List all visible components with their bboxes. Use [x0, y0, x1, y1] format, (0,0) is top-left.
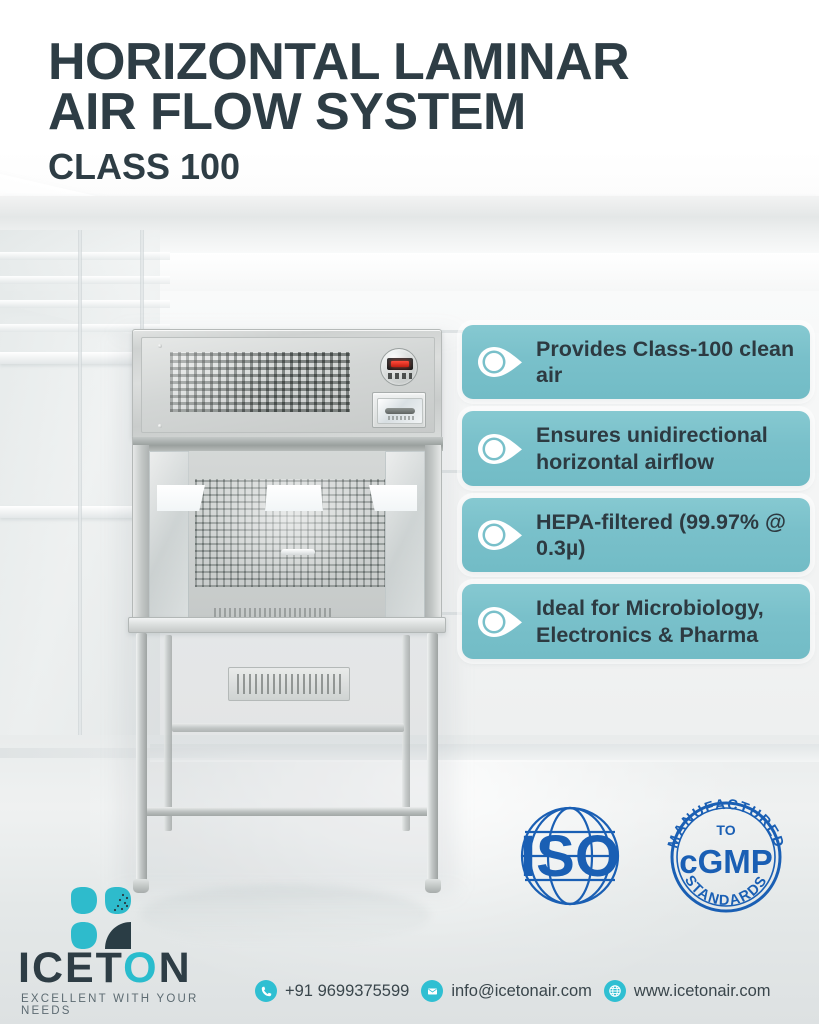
feature-item-3[interactable]: HEPA-filtered (99.97% @ 0.3µ) [462, 498, 810, 572]
cabinet-plenum [132, 329, 442, 439]
feature-label: Provides Class-100 clean air [536, 336, 796, 388]
logo-word-part1: ICET [18, 944, 123, 992]
phone-icon [255, 980, 277, 1002]
chamber-lamp-right [369, 485, 417, 511]
product-image [110, 325, 465, 905]
logo-wordmark: ICETON [18, 947, 233, 990]
cgmp-seal-icon: MANUFACTURED TO cGMP STANDARDS [656, 797, 796, 915]
glass-louvre [0, 276, 170, 284]
feature-label: Ensures unidirectional horizontal airflo… [536, 422, 796, 474]
gauge-scale [388, 416, 414, 420]
display-buttons [388, 373, 412, 379]
gauge-needle [385, 408, 415, 414]
stand-brace-mid [172, 723, 404, 732]
poster-canvas: HORIZONTAL LAMINAR AIR FLOW SYSTEM CLASS… [0, 0, 819, 1024]
stand-leg-front-left [136, 633, 147, 883]
digital-display [380, 348, 418, 386]
website-url: www.icetonair.com [634, 982, 771, 1001]
panel-screw [158, 344, 162, 348]
eye-bullet-icon [476, 345, 526, 379]
contact-email[interactable]: info@icetonair.com [421, 980, 592, 1002]
logo-word-part2: N [159, 944, 192, 992]
side-glass-panel-right [385, 451, 425, 623]
stand-leg-front-right [427, 633, 438, 883]
company-logo: ICETON EXCELLENT WITH YOUR NEEDS [18, 885, 233, 1017]
eye-bullet-icon [476, 605, 526, 639]
title-line-2: AIR FLOW SYSTEM [48, 88, 788, 138]
phone-number: +91 9699375599 [285, 982, 409, 1001]
chamber-handle [281, 549, 315, 555]
stand-leg-back-left [164, 635, 172, 831]
under-cabinet-vent [228, 667, 350, 701]
page-subtitle: CLASS 100 [48, 146, 788, 188]
page-title: HORIZONTAL LAMINAR AIR FLOW SYSTEM [48, 38, 788, 138]
prefilter-grille [170, 352, 350, 412]
iso-label: ISO [520, 824, 620, 889]
logo-word-o: O [123, 944, 158, 992]
chamber-lamp-center [265, 485, 323, 511]
contact-phone[interactable]: +91 9699375599 [255, 980, 409, 1002]
stand-brace-low [142, 807, 434, 816]
side-glass-panel-left [149, 451, 189, 623]
poster-title-block: HORIZONTAL LAMINAR AIR FLOW SYSTEM CLASS… [48, 38, 788, 188]
feature-item-4[interactable]: Ideal for Microbiology, Electronics & Ph… [462, 584, 810, 658]
display-screen [387, 358, 413, 370]
globe-icon [604, 980, 626, 1002]
eye-bullet-icon [476, 432, 526, 466]
chamber-top-lip [133, 437, 443, 451]
stand-leg-back-right [402, 635, 410, 831]
feature-item-1[interactable]: Provides Class-100 clean air [462, 325, 810, 399]
magnehelic-gauge [372, 392, 426, 428]
eye-bullet-icon [476, 518, 526, 552]
glass-louvre [0, 300, 170, 308]
adjustable-foot-right [425, 879, 441, 893]
work-chamber [132, 437, 442, 627]
display-led-readout [391, 361, 409, 367]
cgmp-badge: MANUFACTURED TO cGMP STANDARDS [656, 797, 796, 915]
title-line-1: HORIZONTAL LAMINAR [48, 38, 788, 88]
feature-label: Ideal for Microbiology, Electronics & Ph… [536, 595, 796, 647]
email-icon [421, 980, 443, 1002]
chamber-right-post [425, 445, 441, 625]
feature-item-2[interactable]: Ensures unidirectional horizontal airflo… [462, 411, 810, 485]
chamber-left-post [133, 445, 149, 625]
contact-website[interactable]: www.icetonair.com [604, 980, 771, 1002]
logo-tagline: EXCELLENT WITH YOUR NEEDS [21, 993, 233, 1017]
cgmp-to-label: TO [716, 822, 735, 838]
iceton-four-shapes-icon [68, 885, 134, 951]
feature-list: Provides Class-100 clean air Ensures uni… [462, 325, 810, 671]
cabinet-stand [128, 631, 446, 897]
certification-badges: ISO MANUFACTURED TO cGMP STANDARDS [490, 795, 810, 920]
feature-label: HEPA-filtered (99.97% @ 0.3µ) [536, 509, 796, 561]
iso-globe-icon: ISO [495, 800, 645, 912]
plenum-face-panel [141, 337, 435, 433]
email-address: info@icetonair.com [451, 982, 592, 1001]
gauge-glass [377, 398, 423, 424]
glass-louvre [0, 252, 170, 260]
contact-bar: +91 9699375599 info@icetonair.com www.ic… [255, 975, 811, 1007]
iso-badge: ISO [495, 800, 645, 912]
panel-screw [158, 424, 162, 428]
chamber-lamp-left [157, 485, 205, 511]
